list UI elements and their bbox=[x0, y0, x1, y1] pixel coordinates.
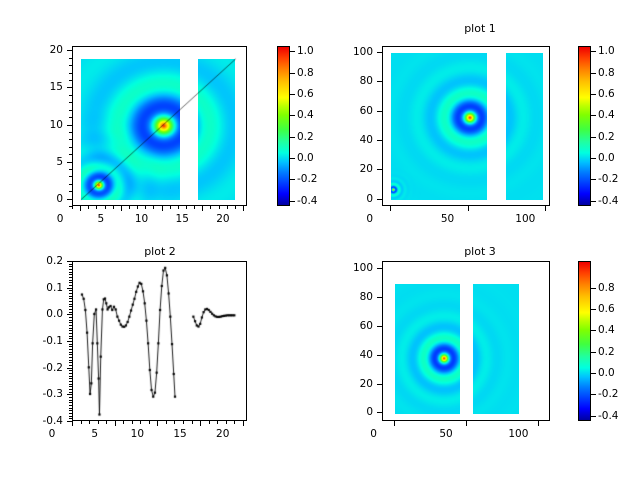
y-tick-minor bbox=[69, 400, 72, 401]
y-tick-minor bbox=[69, 306, 72, 307]
y-tick-minor bbox=[69, 392, 72, 393]
line-series-canvas bbox=[73, 262, 247, 421]
y-tick-major bbox=[67, 125, 72, 126]
y-tick-minor bbox=[69, 338, 72, 339]
x-tick-major bbox=[72, 421, 73, 426]
panel-top-left: 0510152005101520 1.00.80.60.40.20.0-0.2-… bbox=[0, 0, 320, 240]
y-tick-minor bbox=[69, 264, 72, 265]
y-tick-minor bbox=[69, 336, 72, 337]
colorbar-tick bbox=[591, 51, 596, 52]
y-tick-label: 80 bbox=[331, 76, 373, 87]
colorbar-tick-label: 0.2 bbox=[297, 131, 314, 143]
x-tick-label: 100 bbox=[498, 429, 538, 440]
colorbar-tick bbox=[290, 158, 295, 159]
x-tick-minor bbox=[105, 206, 106, 209]
x-tick-label: 0 bbox=[40, 214, 80, 225]
y-tick-major bbox=[377, 111, 382, 112]
y-tick-minor bbox=[69, 110, 72, 111]
colorbar-tick bbox=[290, 115, 295, 116]
colorbar-tick bbox=[591, 115, 596, 116]
colorbar-tick-label: -0.2 bbox=[297, 173, 318, 185]
x-tick-label: 50 bbox=[426, 429, 466, 440]
y-tick-minor bbox=[69, 346, 72, 347]
colorbar-tick-label: -0.4 bbox=[297, 195, 318, 207]
x-tick-minor bbox=[72, 206, 73, 209]
y-tick-minor bbox=[69, 418, 72, 419]
y-tick-major bbox=[377, 326, 382, 327]
colorbar-tick bbox=[591, 73, 596, 74]
colorbar-top-left bbox=[277, 46, 290, 206]
x-tick-label: 15 bbox=[162, 214, 202, 225]
x-tick-label: 20 bbox=[203, 429, 243, 440]
colorbar-tick bbox=[591, 330, 596, 331]
colorbar-tick-label: 0.4 bbox=[297, 109, 314, 121]
y-tick-major bbox=[67, 394, 72, 395]
colorbar-tick bbox=[591, 288, 596, 289]
colorbar-tick-label: 0.2 bbox=[598, 131, 615, 143]
colorbar-tick bbox=[591, 201, 596, 202]
x-tick-label: 50 bbox=[428, 214, 468, 225]
x-tick-minor bbox=[149, 421, 150, 424]
y-tick-minor bbox=[69, 65, 72, 66]
x-tick-minor bbox=[145, 206, 146, 209]
x-tick-major bbox=[162, 206, 163, 211]
y-tick-label: -0.4 bbox=[21, 416, 63, 427]
y-tick-label: 0 bbox=[331, 407, 373, 418]
colorbar-tick-label: 0.6 bbox=[598, 303, 615, 315]
colorbar-top-right bbox=[578, 46, 591, 206]
x-tick-major bbox=[157, 421, 158, 426]
y-tick-minor bbox=[69, 58, 72, 59]
y-tick-minor bbox=[69, 269, 72, 270]
x-tick-minor bbox=[192, 421, 193, 424]
x-tick-minor bbox=[234, 421, 235, 424]
y-tick-minor bbox=[69, 285, 72, 286]
plot-area-bottom-left[interactable] bbox=[72, 261, 247, 421]
x-tick-label: 5 bbox=[75, 429, 115, 440]
colorbar-tick-label: 0.0 bbox=[297, 152, 314, 164]
colorbar-tick-label: 1.0 bbox=[598, 45, 615, 57]
y-tick-major bbox=[67, 199, 72, 200]
x-tick-minor bbox=[89, 421, 90, 424]
x-tick-major bbox=[243, 421, 244, 426]
y-tick-label: 20 bbox=[331, 164, 373, 175]
heatmap-block bbox=[391, 53, 487, 200]
x-tick-minor bbox=[132, 421, 133, 424]
colorbar-tick-label: 0.4 bbox=[598, 324, 615, 336]
x-tick-major bbox=[115, 421, 116, 426]
colorbar-tick bbox=[290, 201, 295, 202]
x-tick-label: 0 bbox=[32, 429, 72, 440]
panel-top-right-title: plot 1 bbox=[320, 22, 640, 35]
x-tick-major bbox=[121, 206, 122, 211]
y-tick-label: 15 bbox=[21, 82, 63, 93]
colorbar-tick-label: 1.0 bbox=[297, 45, 314, 57]
x-tick-minor bbox=[98, 421, 99, 424]
y-tick-minor bbox=[69, 296, 72, 297]
x-tick-major bbox=[243, 206, 244, 211]
y-tick-minor bbox=[69, 365, 72, 366]
y-tick-minor bbox=[69, 272, 72, 273]
colorbar-tick-label: 0.8 bbox=[598, 67, 615, 79]
y-tick-label: 60 bbox=[331, 321, 373, 332]
y-tick-major bbox=[377, 199, 382, 200]
colorbar-tick-label: 0.8 bbox=[598, 282, 615, 294]
y-tick-major bbox=[377, 52, 382, 53]
y-tick-minor bbox=[69, 386, 72, 387]
figure-canvas: 0510152005101520 1.00.80.60.40.20.0-0.2-… bbox=[0, 0, 640, 480]
plot-area-top-right[interactable] bbox=[382, 46, 550, 206]
y-tick-minor bbox=[69, 184, 72, 185]
y-tick-minor bbox=[69, 309, 72, 310]
x-tick-minor bbox=[235, 206, 236, 209]
heatmap-block bbox=[395, 284, 460, 414]
y-tick-minor bbox=[69, 277, 72, 278]
y-tick-label: 0 bbox=[331, 193, 373, 204]
x-tick-minor bbox=[227, 206, 228, 209]
y-tick-minor bbox=[69, 389, 72, 390]
x-tick-minor bbox=[123, 421, 124, 424]
x-tick-minor bbox=[183, 421, 184, 424]
y-tick-minor bbox=[69, 376, 72, 377]
y-tick-minor bbox=[69, 344, 72, 345]
y-tick-minor bbox=[69, 330, 72, 331]
x-tick-minor bbox=[81, 421, 82, 424]
x-tick-minor bbox=[129, 206, 130, 209]
x-tick-label: 15 bbox=[160, 429, 200, 440]
y-tick-major bbox=[67, 314, 72, 315]
colorbar-tick-label: 0.8 bbox=[297, 67, 314, 79]
colorbar-tick bbox=[290, 73, 295, 74]
colorbar-tick bbox=[290, 51, 295, 52]
x-tick-label: 0 bbox=[354, 429, 394, 440]
y-tick-major bbox=[67, 368, 72, 369]
y-tick-label: 100 bbox=[331, 263, 373, 274]
y-tick-minor bbox=[69, 317, 72, 318]
colorbar-tick bbox=[591, 137, 596, 138]
x-tick-minor bbox=[113, 206, 114, 209]
x-tick-major bbox=[466, 421, 467, 426]
y-tick-minor bbox=[69, 290, 72, 291]
colorbar-bottom-right bbox=[578, 261, 591, 421]
y-tick-minor bbox=[69, 293, 72, 294]
colorbar-tick-label: 0.6 bbox=[598, 88, 615, 100]
y-tick-label: 10 bbox=[21, 119, 63, 130]
y-tick-label: 5 bbox=[21, 156, 63, 167]
y-tick-minor bbox=[69, 357, 72, 358]
x-tick-label: 0 bbox=[350, 214, 390, 225]
y-tick-minor bbox=[69, 362, 72, 363]
y-tick-major bbox=[67, 162, 72, 163]
y-tick-minor bbox=[69, 73, 72, 74]
colorbar-tick bbox=[591, 373, 596, 374]
panel-bottom-right-title: plot 3 bbox=[320, 245, 640, 258]
colorbar-tick-label: 0.0 bbox=[598, 152, 615, 164]
y-tick-minor bbox=[69, 373, 72, 374]
heatmap-block bbox=[506, 53, 543, 200]
panel-bottom-right: plot 3 020406080100050100 0.80.60.40.20.… bbox=[320, 240, 640, 480]
x-tick-minor bbox=[88, 206, 89, 209]
x-tick-minor bbox=[209, 421, 210, 424]
y-tick-label: 100 bbox=[331, 47, 373, 58]
x-tick-label: 20 bbox=[203, 214, 243, 225]
y-tick-major bbox=[377, 355, 382, 356]
y-tick-major bbox=[377, 384, 382, 385]
y-tick-major bbox=[377, 81, 382, 82]
y-tick-minor bbox=[69, 280, 72, 281]
x-tick-minor bbox=[153, 206, 154, 209]
y-tick-minor bbox=[69, 117, 72, 118]
y-tick-label: 0.2 bbox=[21, 256, 63, 267]
colorbar-tick-label: -0.4 bbox=[598, 410, 619, 422]
y-tick-label: 60 bbox=[331, 105, 373, 116]
y-tick-minor bbox=[69, 349, 72, 350]
y-tick-minor bbox=[69, 102, 72, 103]
x-tick-major bbox=[80, 206, 81, 211]
y-tick-minor bbox=[69, 191, 72, 192]
y-tick-label: 0.0 bbox=[21, 309, 63, 320]
x-tick-minor bbox=[174, 421, 175, 424]
y-tick-minor bbox=[69, 360, 72, 361]
y-tick-major bbox=[67, 87, 72, 88]
x-tick-minor bbox=[106, 421, 107, 424]
x-tick-label: 5 bbox=[81, 214, 121, 225]
y-tick-label: -0.3 bbox=[21, 389, 63, 400]
x-tick-major bbox=[468, 206, 469, 211]
y-tick-minor bbox=[69, 266, 72, 267]
y-tick-minor bbox=[69, 384, 72, 385]
y-tick-minor bbox=[69, 370, 72, 371]
heatmap-block bbox=[473, 284, 519, 414]
y-tick-minor bbox=[69, 352, 72, 353]
y-tick-major bbox=[377, 140, 382, 141]
colorbar-tick bbox=[290, 179, 295, 180]
y-tick-minor bbox=[69, 410, 72, 411]
y-tick-minor bbox=[69, 333, 72, 334]
y-tick-minor bbox=[69, 80, 72, 81]
colorbar-tick bbox=[591, 94, 596, 95]
plot-area-bottom-right[interactable] bbox=[382, 261, 550, 421]
y-tick-major bbox=[67, 341, 72, 342]
y-tick-minor bbox=[69, 298, 72, 299]
colorbar-tick-label: 0.6 bbox=[297, 88, 314, 100]
y-tick-minor bbox=[69, 397, 72, 398]
plot-area-top-left[interactable] bbox=[72, 46, 247, 206]
x-tick-label: 100 bbox=[505, 214, 545, 225]
y-tick-minor bbox=[69, 378, 72, 379]
y-tick-label: 0 bbox=[21, 193, 63, 204]
x-tick-major bbox=[390, 206, 391, 211]
colorbar-tick-label: -0.2 bbox=[598, 388, 619, 400]
y-tick-minor bbox=[69, 354, 72, 355]
y-tick-minor bbox=[69, 328, 72, 329]
x-tick-minor bbox=[166, 421, 167, 424]
y-tick-label: 0.1 bbox=[21, 282, 63, 293]
y-tick-major bbox=[67, 50, 72, 51]
y-tick-label: 40 bbox=[331, 349, 373, 360]
y-tick-major bbox=[377, 169, 382, 170]
x-tick-minor bbox=[137, 206, 138, 209]
colorbar-tick-label: -0.4 bbox=[598, 195, 619, 207]
y-tick-major bbox=[377, 297, 382, 298]
y-tick-label: -0.1 bbox=[21, 336, 63, 347]
y-tick-minor bbox=[69, 405, 72, 406]
y-tick-minor bbox=[69, 169, 72, 170]
x-tick-minor bbox=[96, 206, 97, 209]
x-tick-minor bbox=[140, 421, 141, 424]
x-tick-minor bbox=[170, 206, 171, 209]
colorbar-tick-label: 0.2 bbox=[598, 346, 615, 358]
colorbar-tick-label: -0.2 bbox=[598, 173, 619, 185]
x-tick-major bbox=[545, 206, 546, 211]
x-tick-minor bbox=[226, 421, 227, 424]
y-tick-label: -0.2 bbox=[21, 362, 63, 373]
x-tick-major bbox=[394, 421, 395, 426]
y-tick-minor bbox=[69, 312, 72, 313]
y-tick-minor bbox=[69, 95, 72, 96]
x-tick-minor bbox=[186, 206, 187, 209]
y-tick-major bbox=[377, 268, 382, 269]
x-tick-minor bbox=[217, 421, 218, 424]
panel-top-right: plot 1 020406080100050100 1.00.80.60.40.… bbox=[320, 0, 640, 240]
y-tick-minor bbox=[69, 154, 72, 155]
y-tick-minor bbox=[69, 381, 72, 382]
y-tick-minor bbox=[69, 325, 72, 326]
colorbar-tick bbox=[591, 309, 596, 310]
x-tick-major bbox=[538, 421, 539, 426]
colorbar-tick-label: 0.4 bbox=[598, 109, 615, 121]
y-tick-minor bbox=[69, 408, 72, 409]
x-tick-major bbox=[200, 421, 201, 426]
overlay-diagonal-line bbox=[73, 47, 247, 206]
colorbar-tick bbox=[290, 137, 295, 138]
colorbar-tick bbox=[591, 179, 596, 180]
x-tick-label: 10 bbox=[122, 214, 162, 225]
panel-bottom-left: plot 2 0.20.10.0-0.1-0.2-0.3-0.405101520 bbox=[0, 240, 320, 480]
y-tick-major bbox=[67, 261, 72, 262]
y-tick-minor bbox=[69, 402, 72, 403]
y-tick-label: 20 bbox=[331, 378, 373, 389]
y-tick-minor bbox=[69, 147, 72, 148]
y-tick-label: 20 bbox=[21, 45, 63, 56]
y-tick-minor bbox=[69, 274, 72, 275]
y-tick-minor bbox=[69, 282, 72, 283]
y-tick-minor bbox=[69, 301, 72, 302]
colorbar-tick bbox=[591, 394, 596, 395]
y-tick-minor bbox=[69, 322, 72, 323]
y-tick-label: 40 bbox=[331, 135, 373, 146]
x-tick-label: 10 bbox=[117, 429, 157, 440]
y-tick-minor bbox=[69, 416, 72, 417]
x-tick-minor bbox=[194, 206, 195, 209]
x-tick-minor bbox=[219, 206, 220, 209]
y-tick-major bbox=[377, 412, 382, 413]
y-tick-label: 80 bbox=[331, 292, 373, 303]
x-tick-minor bbox=[210, 206, 211, 209]
y-tick-minor bbox=[69, 413, 72, 414]
y-tick-minor bbox=[69, 304, 72, 305]
colorbar-tick bbox=[591, 352, 596, 353]
colorbar-tick-label: 0.0 bbox=[598, 367, 615, 379]
y-tick-minor bbox=[69, 176, 72, 177]
colorbar-tick bbox=[290, 94, 295, 95]
y-tick-major bbox=[67, 288, 72, 289]
y-tick-minor bbox=[69, 139, 72, 140]
y-tick-minor bbox=[69, 320, 72, 321]
colorbar-tick bbox=[591, 416, 596, 417]
y-tick-minor bbox=[69, 132, 72, 133]
x-tick-minor bbox=[178, 206, 179, 209]
x-tick-major bbox=[202, 206, 203, 211]
colorbar-tick bbox=[591, 158, 596, 159]
